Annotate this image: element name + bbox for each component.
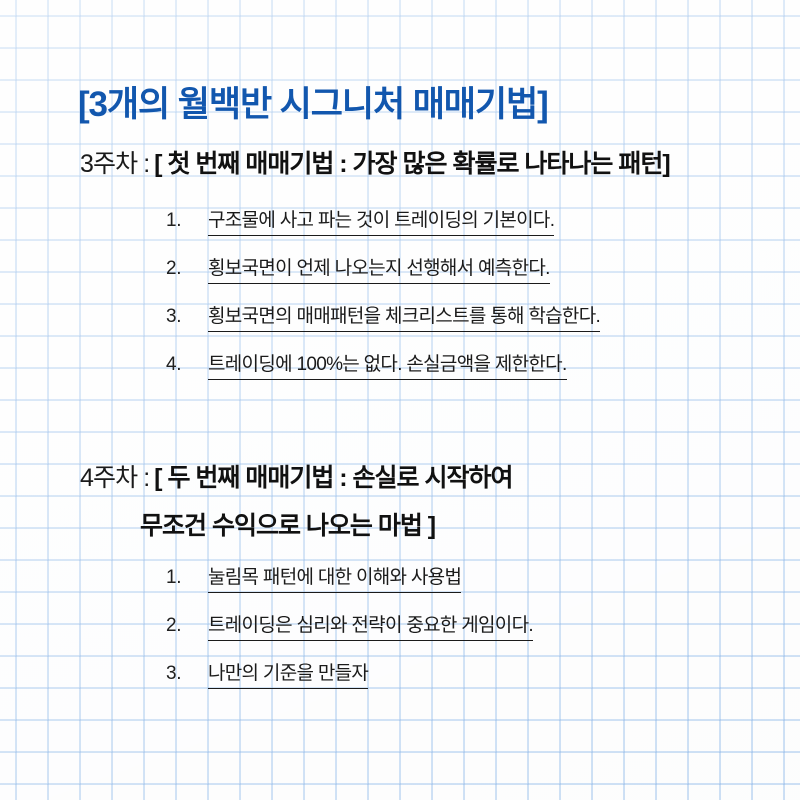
list-item-number: 2. [166,615,208,637]
week-label: 4주차 [80,458,137,494]
page-title: [3개의 월백반 시그니처 매매기법] [78,85,548,125]
week-label: 3주차 [80,144,137,180]
list-item: 2. 횡보국면이 언제 나오는지 선행해서 예측한다. [0,253,800,301]
list-week-4: 1. 눌림목 패턴에 대한 이해와 사용법 2. 트레이딩은 심리와 전략이 중… [0,562,800,706]
list-item: 4. 트레이딩에 100%는 없다. 손실금액을 제한한다. [0,349,800,397]
list-item: 1. 눌림목 패턴에 대한 이해와 사용법 [0,562,800,610]
list-item-text: 횡보국면이 언제 나오는지 선행해서 예측한다. [208,253,550,284]
list-item-number: 4. [166,354,208,376]
list-item-text: 구조물에 사고 파는 것이 트레이딩의 기본이다. [208,205,554,236]
list-item: 3. 횡보국면의 매매패턴을 체크리스트를 통해 학습한다. [0,301,800,349]
section-heading-week-3: 3주차 : [ 첫 번째 매매기법 : 가장 많은 확률로 나타나는 패턴] [0,144,800,180]
list-item-text: 나만의 기준을 만들자 [208,658,368,689]
list-item-number: 1. [166,567,208,589]
list-item: 2. 트레이딩은 심리와 전략이 중요한 게임이다. [0,610,800,658]
list-item-number: 3. [166,663,208,685]
section-heading-week-4: 4주차 : [ 두 번째 매매기법 : 손실로 시작하여 [0,458,800,494]
list-item-text: 트레이딩은 심리와 전략이 중요한 게임이다. [208,610,533,641]
list-item: 3. 나만의 기준을 만들자 [0,658,800,706]
list-item-text: 눌림목 패턴에 대한 이해와 사용법 [208,562,461,593]
list-item: 1. 구조물에 사고 파는 것이 트레이딩의 기본이다. [0,205,800,253]
list-item-number: 3. [166,306,208,328]
heading-title: [ 첫 번째 매매기법 : 가장 많은 확률로 나타나는 패턴] [154,144,670,180]
section-week-4: 4주차 : [ 두 번째 매매기법 : 손실로 시작하여 무조건 수익으로 나오… [0,458,800,542]
list-item-number: 1. [166,210,208,232]
heading-separator: : [137,464,154,493]
notebook-page: [3개의 월백반 시그니처 매매기법] 3주차 : [ 첫 번째 매매기법 : … [0,0,800,800]
list-item-text: 트레이딩에 100%는 없다. 손실금액을 제한한다. [208,349,567,380]
heading-separator: : [137,150,154,179]
page-content: [3개의 월백반 시그니처 매매기법] 3주차 : [ 첫 번째 매매기법 : … [0,0,800,800]
list-week-3: 1. 구조물에 사고 파는 것이 트레이딩의 기본이다. 2. 횡보국면이 언제… [0,205,800,397]
section-week-3: 3주차 : [ 첫 번째 매매기법 : 가장 많은 확률로 나타나는 패턴] [0,144,800,180]
list-item-number: 2. [166,258,208,280]
list-item-text: 횡보국면의 매매패턴을 체크리스트를 통해 학습한다. [208,301,600,332]
heading-title-continued: 무조건 수익으로 나오는 마법 ] [0,506,800,542]
heading-title: [ 두 번째 매매기법 : 손실로 시작하여 [154,458,512,494]
